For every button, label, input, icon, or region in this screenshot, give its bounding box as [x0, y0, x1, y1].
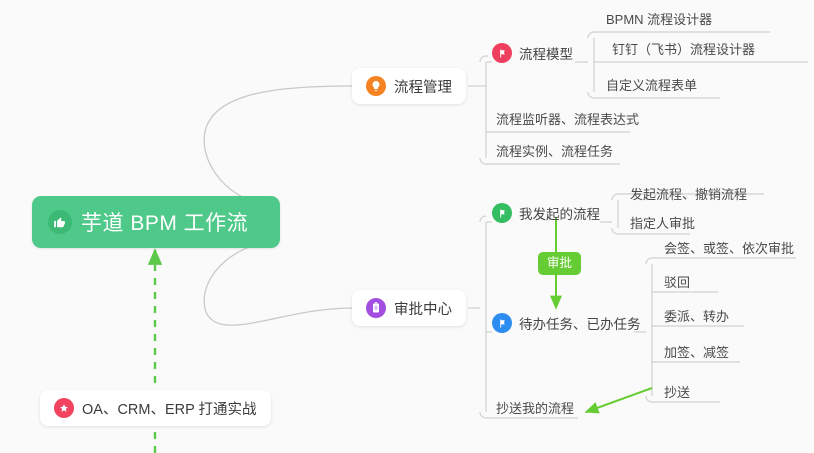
leaf-process-instance[interactable]: 流程实例、流程任务 — [490, 143, 619, 165]
star-icon — [54, 398, 74, 418]
node-label-my-processes: 我发起的流程 — [519, 203, 600, 223]
leaf-process-listener[interactable]: 流程监听器、流程表达式 — [490, 111, 645, 133]
branch-label-process: 流程管理 — [394, 76, 452, 97]
lightbulb-icon — [366, 76, 386, 96]
mindmap-canvas: 芋道 BPM 工作流 流程管理 流程模型 BPMN 流程设计器 钉钉（飞书）流程… — [0, 0, 814, 453]
leaf-assignee-approval[interactable]: 指定人审批 — [624, 215, 701, 237]
approval-tag-label: 审批 — [547, 256, 572, 270]
leaf-reject[interactable]: 驳回 — [658, 274, 696, 296]
flag-icon — [492, 43, 512, 63]
leaf-label: BPMN 流程设计器 — [606, 12, 712, 27]
leaf-label: 发起流程、撤销流程 — [630, 187, 747, 202]
leaf-label: 会签、或签、依次审批 — [664, 241, 794, 256]
node-todo-done-tasks[interactable]: 待办任务、已办任务 — [492, 312, 641, 334]
leaf-label: 加签、减签 — [664, 345, 729, 360]
branch-node-process[interactable]: 流程管理 — [352, 68, 466, 104]
footnote-label: OA、CRM、ERP 打通实战 — [82, 398, 257, 419]
leaf-label: 抄送我的流程 — [496, 401, 574, 416]
leaf-label: 流程实例、流程任务 — [496, 144, 613, 159]
branch-node-approval[interactable]: 审批中心 — [352, 290, 466, 326]
flag-icon — [492, 203, 512, 223]
leaf-custom-form[interactable]: 自定义流程表单 — [600, 77, 703, 99]
node-my-processes[interactable]: 我发起的流程 — [492, 202, 600, 224]
leaf-label: 指定人审批 — [630, 216, 695, 231]
node-process-model[interactable]: 流程模型 — [492, 42, 573, 64]
flag-icon — [492, 313, 512, 333]
root-label: 芋道 BPM 工作流 — [81, 207, 248, 237]
leaf-label: 委派、转办 — [664, 309, 729, 324]
leaf-label: 钉钉（飞书）流程设计器 — [612, 42, 755, 57]
footnote-node[interactable]: OA、CRM、ERP 打通实战 — [40, 390, 271, 426]
leaf-label: 抄送 — [664, 385, 690, 400]
clipboard-icon — [366, 298, 386, 318]
node-label-todo-done-tasks: 待办任务、已办任务 — [519, 313, 641, 333]
leaf-start-cancel-process[interactable]: 发起流程、撤销流程 — [624, 186, 753, 208]
approval-tag[interactable]: 审批 — [538, 252, 581, 275]
leaf-cc-my-processes[interactable]: 抄送我的流程 — [490, 400, 580, 422]
leaf-bpmn-designer[interactable]: BPMN 流程设计器 — [600, 11, 718, 33]
leaf-label: 驳回 — [664, 275, 690, 290]
leaf-label: 自定义流程表单 — [606, 78, 697, 93]
root-node[interactable]: 芋道 BPM 工作流 — [32, 196, 280, 248]
leaf-cc[interactable]: 抄送 — [658, 384, 696, 406]
leaf-delegate-transfer[interactable]: 委派、转办 — [658, 308, 735, 330]
leaf-countersign[interactable]: 会签、或签、依次审批 — [658, 240, 800, 262]
leaf-dingtalk-designer[interactable]: 钉钉（飞书）流程设计器 — [606, 41, 761, 63]
thumbs-up-icon — [48, 210, 72, 234]
cc-flow-arrow — [586, 388, 652, 412]
node-label-process-model: 流程模型 — [519, 43, 573, 63]
leaf-label: 流程监听器、流程表达式 — [496, 112, 639, 127]
branch-label-approval: 审批中心 — [394, 298, 452, 319]
leaf-add-remove-sign[interactable]: 加签、减签 — [658, 344, 735, 366]
